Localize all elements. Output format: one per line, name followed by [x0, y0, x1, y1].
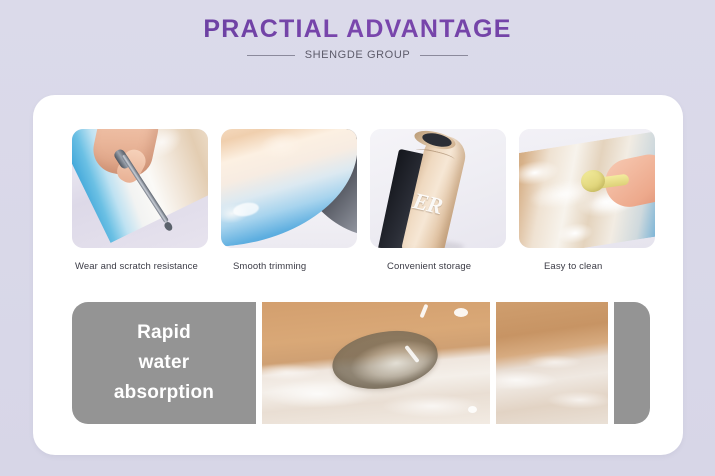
highlight-line-2: water: [114, 348, 214, 378]
feature-item-4: Easy to clean: [519, 129, 655, 272]
bubble-shape: [454, 308, 468, 317]
page-title: PRACTIAL ADVANTAGE: [0, 14, 715, 44]
feature-item-2: Smooth trimming: [221, 129, 357, 272]
brand-subtitle: SHENGDE GROUP: [305, 49, 411, 61]
highlight-end-cap: [614, 302, 650, 424]
divider-line-right: [420, 55, 468, 56]
promo-page: PRACTIAL ADVANTAGE SHENGDE GROUP: [0, 0, 715, 476]
rolled-mat-photo[interactable]: ER: [370, 129, 506, 248]
content-card: Wear and scratch resistance Smooth trimm…: [33, 95, 683, 455]
highlight-line-1: Rapid: [114, 318, 214, 348]
water-swirl-overlay: [496, 302, 608, 424]
water-droplet-photo[interactable]: [262, 302, 490, 424]
feature-caption-3: Convenient storage: [370, 261, 506, 272]
scratch-test-photo[interactable]: [72, 129, 208, 248]
highlight-band: Rapid water absorption: [72, 302, 650, 424]
wet-surface-photo[interactable]: [496, 302, 608, 424]
page-header: PRACTIAL ADVANTAGE SHENGDE GROUP: [0, 14, 715, 61]
feature-caption-1: Wear and scratch resistance: [72, 261, 208, 272]
highlight-label-panel: Rapid water absorption: [72, 302, 256, 424]
feature-item-1: Wear and scratch resistance: [72, 129, 208, 272]
brush-cleaning-photo[interactable]: [519, 129, 655, 248]
feature-item-3: ER Convenient storage: [370, 129, 506, 272]
highlight-line-3: absorption: [114, 378, 214, 408]
bubble-shape: [468, 406, 477, 413]
divider-line-left: [247, 55, 295, 56]
feature-caption-4: Easy to clean: [519, 261, 655, 272]
mat-edge-photo[interactable]: [221, 129, 357, 248]
highlight-photo-row: [262, 302, 608, 424]
subtitle-row: SHENGDE GROUP: [0, 49, 715, 61]
highlight-label-text: Rapid water absorption: [114, 318, 214, 408]
feature-thumbnail-row: Wear and scratch resistance Smooth trimm…: [72, 129, 650, 272]
feature-caption-2: Smooth trimming: [221, 261, 357, 272]
